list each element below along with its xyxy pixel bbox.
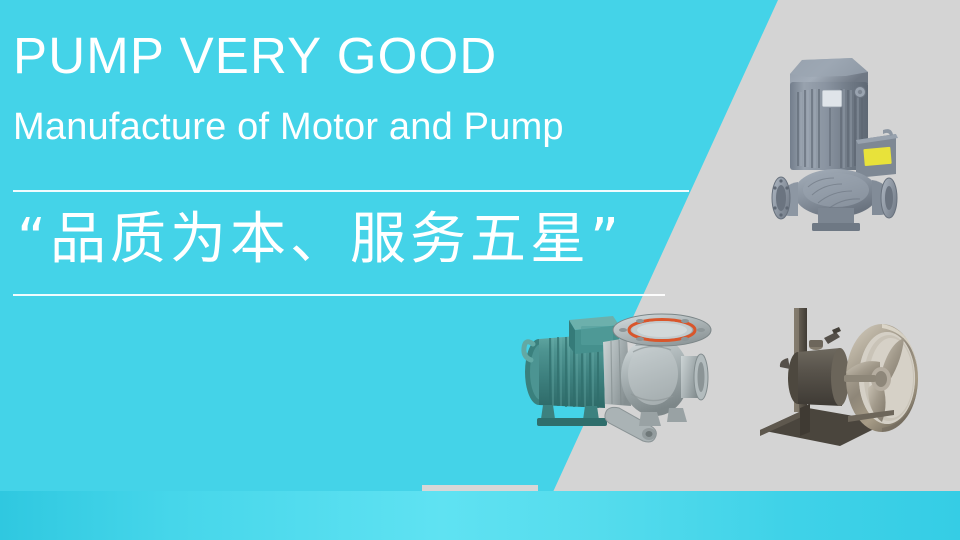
slogan-text: “品质为本、服务五星” <box>17 198 623 282</box>
divider-bottom <box>13 294 665 296</box>
product-image-vertical-inline-pump <box>756 48 916 248</box>
page-title: PUMP VERY GOOD <box>13 27 497 86</box>
product-image-submersible-mixer <box>748 296 938 451</box>
page-subtitle: Manufacture of Motor and Pump <box>13 106 564 150</box>
bottom-accent-bar <box>0 491 960 540</box>
banner-slide: PUMP VERY GOOD Manufacture of Motor and … <box>0 0 960 540</box>
product-image-horizontal-centrifugal-pump <box>495 300 725 460</box>
divider-top <box>13 190 689 192</box>
